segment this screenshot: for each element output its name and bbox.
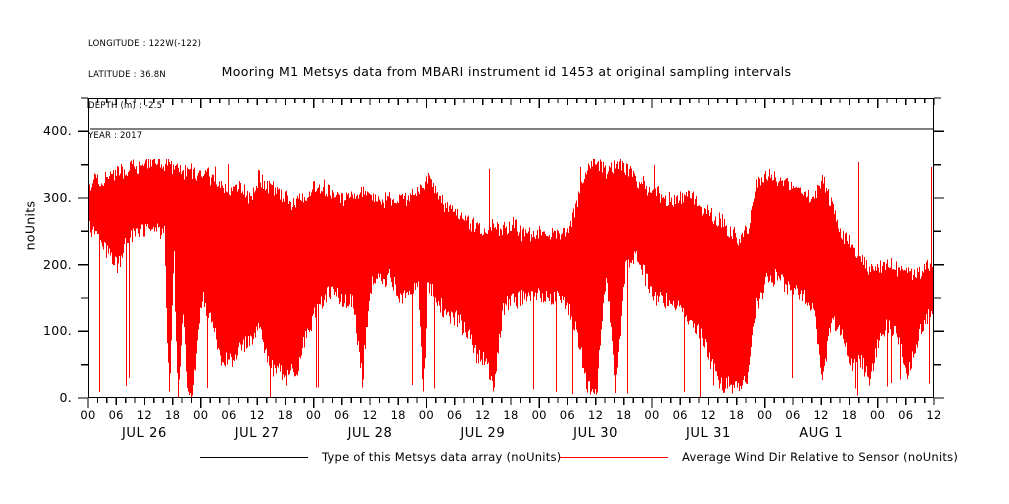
- x-tick-label-hour: 12: [357, 408, 383, 422]
- metadata-longitude: LONGITUDE : 122W(-122): [88, 39, 201, 49]
- y-tick-label: 0.: [26, 390, 72, 405]
- legend: Type of this Metsys data array (noUnits)…: [0, 448, 1009, 470]
- y-tick-label: 200.: [26, 257, 72, 272]
- x-tick-label-day: JUL 30: [541, 426, 651, 441]
- legend-line-icon-black: [200, 457, 308, 458]
- x-tick-label-hour: 18: [160, 408, 186, 422]
- x-tick-label-day: JUL 26: [89, 426, 199, 441]
- x-tick-label-hour: 18: [836, 408, 862, 422]
- y-axis-label: noUnits: [22, 218, 38, 233]
- x-tick-label-day: JUL 31: [653, 426, 763, 441]
- legend-label-wind-dir: Average Wind Dir Relative to Sensor (noU…: [682, 450, 958, 464]
- x-tick-label-hour: 12: [921, 408, 947, 422]
- legend-line-icon-red: [560, 457, 668, 458]
- x-tick-label-day: JUL 27: [202, 426, 312, 441]
- chart-page: LONGITUDE : 122W(-122) LATITUDE : 36.8N …: [0, 0, 1009, 504]
- x-tick-label-day: JUL 28: [315, 426, 425, 441]
- x-tick-label-hour: 18: [724, 408, 750, 422]
- x-tick-label-hour: 06: [442, 408, 468, 422]
- x-tick-label-hour: 00: [526, 408, 552, 422]
- x-tick-label-hour: 06: [329, 408, 355, 422]
- x-tick-label-day: AUG 1: [766, 426, 876, 441]
- x-tick-label-hour: 00: [75, 408, 101, 422]
- x-tick-label-hour: 00: [865, 408, 891, 422]
- chart-title-text: Mooring M1 Metsys data from MBARI instru…: [222, 64, 792, 79]
- x-tick-label-day: JUL 29: [428, 426, 538, 441]
- x-tick-label-hour: 12: [808, 408, 834, 422]
- x-tick-label-hour: 00: [752, 408, 778, 422]
- plot-area: [88, 98, 934, 398]
- x-tick-label-hour: 00: [188, 408, 214, 422]
- x-tick-label-hour: 06: [216, 408, 242, 422]
- x-tick-label-hour: 00: [413, 408, 439, 422]
- x-tick-label-hour: 06: [780, 408, 806, 422]
- x-tick-label-hour: 12: [695, 408, 721, 422]
- x-tick-label-hour: 18: [385, 408, 411, 422]
- y-tick-label: 300.: [26, 190, 72, 205]
- x-tick-label-hour: 12: [583, 408, 609, 422]
- x-tick-label-hour: 00: [301, 408, 327, 422]
- x-tick-label-hour: 12: [470, 408, 496, 422]
- x-tick-label-hour: 18: [272, 408, 298, 422]
- series-canvas: [89, 99, 934, 398]
- x-tick-label-hour: 00: [639, 408, 665, 422]
- legend-entry-type[interactable]: Type of this Metsys data array (noUnits): [200, 448, 561, 466]
- legend-label-type: Type of this Metsys data array (noUnits): [322, 450, 561, 464]
- x-tick-label-hour: 18: [611, 408, 637, 422]
- legend-entry-wind-dir[interactable]: Average Wind Dir Relative to Sensor (noU…: [560, 448, 958, 466]
- y-tick-label: 400.: [26, 123, 72, 138]
- y-tick-label: 100.: [26, 323, 72, 338]
- x-tick-label-hour: 12: [244, 408, 270, 422]
- x-tick-label-hour: 12: [131, 408, 157, 422]
- x-tick-label-hour: 06: [667, 408, 693, 422]
- x-tick-label-hour: 06: [103, 408, 129, 422]
- x-tick-label-hour: 06: [893, 408, 919, 422]
- x-tick-label-hour: 18: [498, 408, 524, 422]
- x-tick-label-hour: 06: [554, 408, 580, 422]
- page-title: Mooring M1 Metsys data from MBARI instru…: [0, 64, 1009, 79]
